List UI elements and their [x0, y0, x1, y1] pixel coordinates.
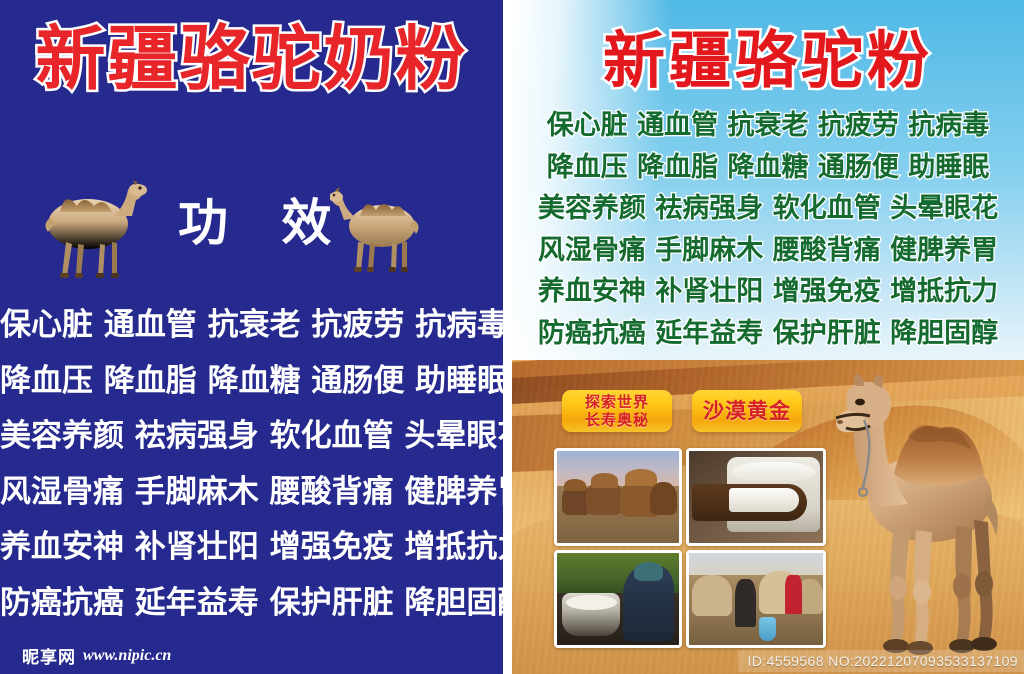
watermark-url: www.nipic.cn [83, 647, 171, 665]
badge-desert-gold[interactable]: 沙漠黄金 [692, 390, 802, 432]
photo-milk-surface [566, 595, 617, 610]
benefit-line: 风湿骨痛 手脚麻木 腰酸背痛 健脾养胃 [0, 465, 503, 521]
benefit-line: 养血安神 补肾壮阳 增强免疫 增抵抗力 [0, 520, 503, 576]
watermark-logo: 昵享网 [22, 643, 76, 668]
photo-camel-hump [564, 479, 586, 492]
badge-text: 沙漠黄金 [703, 399, 791, 423]
right-poster-panel: 新疆骆驼粉 保心脏 通血管 抗衰老 抗疲劳 抗病毒 降血压 降血脂 降血糖 通肠… [512, 0, 1024, 674]
badge-text: 探索世界 长寿奥秘 [585, 393, 649, 429]
photo-milk-powder [729, 488, 799, 512]
left-poster-panel: 新疆骆驼奶粉 [0, 0, 503, 674]
photo-camel [650, 482, 677, 515]
badge-explore-world[interactable]: 探索世界 长寿奥秘 [562, 390, 672, 432]
photo-bucket [759, 617, 776, 641]
badge-line-1: 沙漠黄金 [703, 399, 791, 423]
photo-person-milking [735, 579, 756, 627]
milk-powder-scoop-photo [686, 448, 826, 546]
left-benefit-list: 保心脏 通血管 抗衰老 抗疲劳 抗病毒 降血压 降血脂 降血糖 通肠便 助睡眠 … [0, 298, 503, 631]
efficacy-header-row: 功 效 [0, 168, 503, 288]
milk-pot-woman-photo [554, 550, 682, 648]
benefit-line: 降血压 降血脂 降血糖 通肠便 助睡眠 [512, 147, 1024, 189]
badge-line-2: 长寿奥秘 [585, 411, 649, 429]
benefit-line: 保心脏 通血管 抗衰老 抗疲劳 抗病毒 [0, 298, 503, 354]
benefit-line: 养血安神 补肾壮阳 增强免疫 增抵抗力 [512, 271, 1024, 313]
left-panel-title: 新疆骆驼奶粉 [0, 20, 503, 98]
photo-person-red [785, 575, 801, 614]
photo-camel-hump [591, 473, 618, 488]
benefit-line: 风湿骨痛 手脚麻木 腰酸背痛 健脾养胃 [512, 230, 1024, 272]
photo-headscarf [634, 562, 663, 580]
camel-illustration-right [330, 182, 430, 276]
benefit-line: 保心脏 通血管 抗衰老 抗疲劳 抗病毒 [512, 105, 1024, 147]
badge-line-1: 探索世界 [585, 393, 649, 411]
benefit-line: 美容养颜 祛病强身 软化血管 头晕眼花 [0, 409, 503, 465]
photo-camel [692, 575, 732, 615]
right-panel-title: 新疆骆驼粉 [512, 25, 1024, 97]
camel-illustration-left [32, 172, 152, 284]
camel-herd-photo [554, 448, 682, 546]
benefit-line: 美容养颜 祛病强身 软化血管 头晕眼花 [512, 188, 1024, 230]
benefit-line: 降血压 降血脂 降血糖 通肠便 助睡眠 [0, 354, 503, 410]
image-id-strip: ID:4559568 NO:20221207093533137109 [738, 650, 1024, 672]
efficacy-label: 功 效 [160, 192, 340, 254]
poster-canvas: 新疆骆驼奶粉 [0, 0, 1024, 674]
big-camel-illustration [812, 370, 1022, 660]
photo-grid [554, 448, 814, 650]
camel-milking-photo [686, 550, 826, 648]
watermark: 昵享网 www.nipic.cn [22, 643, 171, 668]
benefit-line: 防癌抗癌 延年益寿 保护肝脏 降胆固醇 [512, 313, 1024, 355]
photo-sky [689, 553, 823, 577]
photo-milk-surface [732, 462, 815, 482]
benefit-line: 防癌抗癌 延年益寿 保护肝脏 降胆固醇 [0, 576, 503, 632]
photo-camel-hump [625, 469, 657, 486]
right-benefit-list: 保心脏 通血管 抗衰老 抗疲劳 抗病毒 降血压 降血脂 降血糖 通肠便 助睡眠 … [512, 105, 1024, 354]
